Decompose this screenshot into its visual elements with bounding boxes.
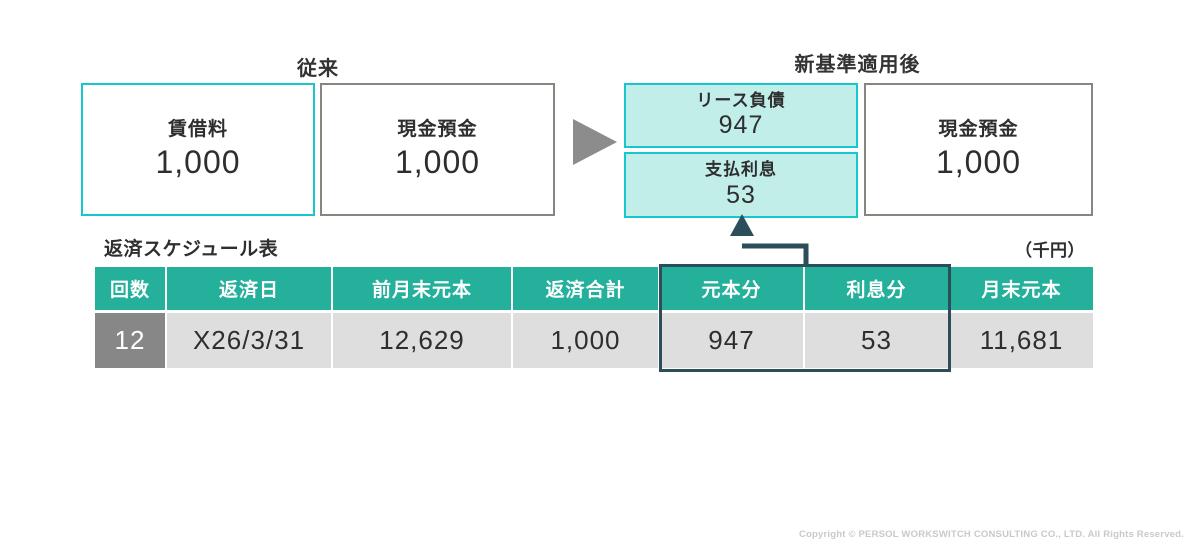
box-rent-expense: 賃借料 1,000 xyxy=(81,83,315,216)
box-lease-liability: リース負債 947 xyxy=(624,83,858,148)
box-cash-after-value: 1,000 xyxy=(936,144,1021,181)
flow-arrow-icon xyxy=(573,119,617,165)
box-cash-after: 現金預金 1,000 xyxy=(864,83,1093,216)
copyright-notice: Copyright © PERSOL WORKSWITCH CONSULTING… xyxy=(799,529,1184,540)
repayment-schedule-table: 回数 返済日 前月末元本 返済合計 元本分 利息分 月末元本 12 X26/3/… xyxy=(95,267,1093,368)
box-lease-liability-label: リース負債 xyxy=(696,91,785,111)
table-caption: 返済スケジュール表 xyxy=(104,234,278,261)
col-header-interest-portion: 利息分 xyxy=(805,267,950,313)
cell-total-payment: 1,000 xyxy=(513,313,660,368)
cell-closing-principal: 11,681 xyxy=(950,313,1093,368)
cell-payment-date: X26/3/31 xyxy=(167,313,333,368)
col-header-closing-principal: 月末元本 xyxy=(950,267,1093,313)
box-interest-expense: 支払利息 53 xyxy=(624,152,858,218)
cell-opening-principal: 12,629 xyxy=(333,313,513,368)
col-header-principal-portion: 元本分 xyxy=(660,267,805,313)
table-header-row: 回数 返済日 前月末元本 返済合計 元本分 利息分 月末元本 xyxy=(95,267,1093,313)
box-interest-expense-label: 支払利息 xyxy=(705,160,777,180)
box-cash-before-value: 1,000 xyxy=(395,144,480,181)
cell-interest-portion: 53 xyxy=(805,313,950,368)
box-rent-expense-value: 1,000 xyxy=(155,144,240,181)
box-rent-expense-label: 賃借料 xyxy=(168,119,228,142)
panel-title-after: 新基準適用後 xyxy=(622,48,1093,77)
panel-title-before: 従来 xyxy=(81,52,555,81)
box-interest-expense-value: 53 xyxy=(726,181,756,210)
table-row: 12 X26/3/31 12,629 1,000 947 53 11,681 xyxy=(95,313,1093,368)
col-header-sequence: 回数 xyxy=(95,267,167,313)
cell-principal-portion: 947 xyxy=(660,313,805,368)
col-header-opening-principal: 前月末元本 xyxy=(333,267,513,313)
cell-sequence: 12 xyxy=(95,313,167,368)
col-header-total-payment: 返済合計 xyxy=(513,267,660,313)
box-lease-liability-value: 947 xyxy=(719,111,764,140)
box-cash-after-label: 現金預金 xyxy=(938,119,1018,142)
box-cash-before: 現金預金 1,000 xyxy=(320,83,555,216)
col-header-payment-date: 返済日 xyxy=(167,267,333,313)
table-unit-label: （千円） xyxy=(1015,236,1085,261)
box-cash-before-label: 現金預金 xyxy=(397,119,477,142)
